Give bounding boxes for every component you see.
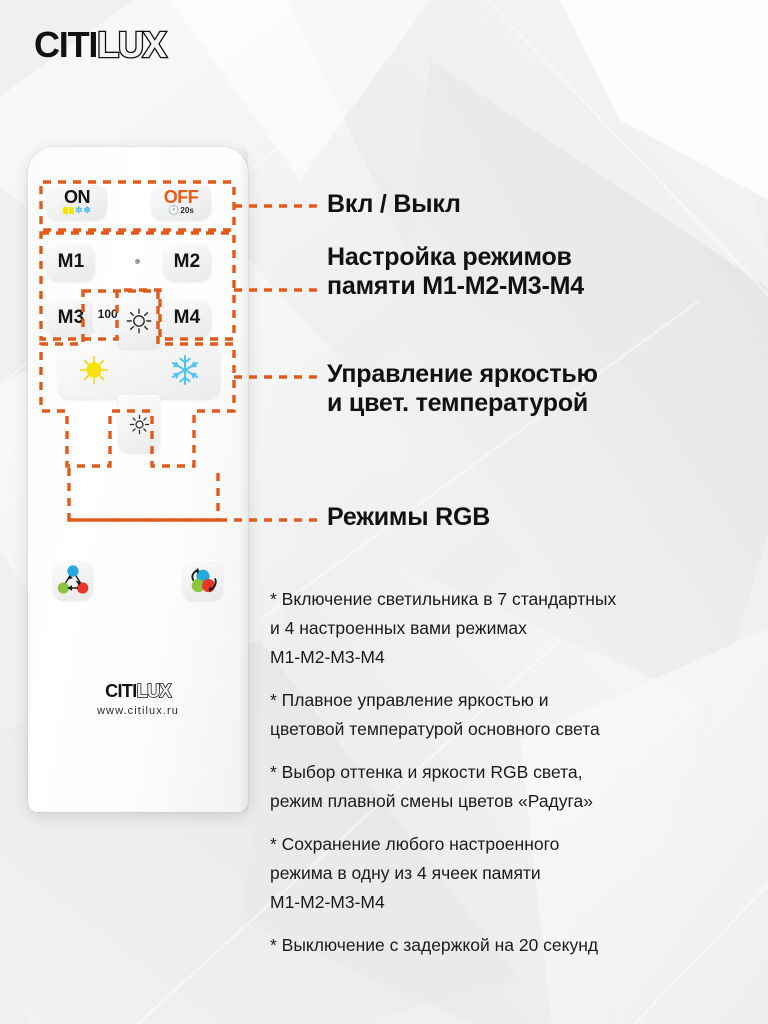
rgb-color-select-icon [57, 564, 89, 596]
memory-button-m3-label: M3 [58, 307, 85, 329]
brand-logo-lux: LUX [97, 24, 165, 65]
callout-label-memory: Настройка режимов памяти M1-M2-M3-M4 [327, 243, 584, 301]
poster-root: CITILUX ON ✲ ❄ OFF 🕐 20s M1 M2 [0, 0, 768, 1024]
power-on-mini-icons: ✲ ❄ [63, 206, 91, 215]
brightness-down-sun-icon [129, 414, 150, 435]
power-on-button[interactable]: ON ✲ ❄ [47, 184, 107, 220]
memory-button-m1-label: M1 [58, 251, 85, 273]
power-off-button[interactable]: OFF 🕐 20s [151, 184, 211, 220]
brand-logo: CITILUX [34, 27, 166, 63]
remote-footer-logo: CITILUX [28, 681, 248, 702]
feature-list: * Включение светильника в 7 стандартных … [270, 585, 762, 974]
power-on-label: ON [64, 189, 90, 206]
memory-button-m2-label: M2 [174, 251, 201, 273]
feature-item: * Плавное управление яркостью и цветовой… [270, 686, 762, 744]
callout-label-onoff: Вкл / Выкл [327, 190, 461, 219]
remote-footer-url: www.citilux.ru [28, 705, 248, 717]
warm-light-button[interactable] [80, 356, 108, 389]
power-off-timer: 🕐 20s [168, 206, 194, 215]
yellow-square-icon [63, 207, 68, 214]
brightness-up-sun-icon [126, 308, 152, 334]
feature-item: * Включение светильника в 7 стандартных … [270, 585, 762, 672]
remote-footer-logo-citi: CITI [105, 681, 137, 701]
power-off-label: OFF [164, 189, 199, 206]
power-off-timer-label: 20s [180, 206, 193, 215]
snowflake-icon: ✲ [75, 206, 83, 215]
remote-footer-logo-lux: LUX [137, 681, 171, 701]
clock-icon: 🕐 [168, 206, 179, 215]
callout-label-rgb: Режимы RGB [327, 503, 490, 532]
cold-light-snowflake-icon [170, 354, 200, 386]
brightness-up-button[interactable] [118, 293, 160, 348]
rgb-rainbow-cycle-button[interactable] [183, 560, 223, 600]
direction-pad: 100% [92, 293, 186, 455]
feature-item: * Выбор оттенка и яркости RGB света, реж… [270, 758, 762, 816]
pad-horizontal-arm [58, 343, 220, 399]
warm-light-sun-icon [80, 356, 108, 384]
memory-button-m2[interactable]: M2 [163, 243, 211, 281]
feature-item: * Выключение с задержкой на 20 секунд [270, 931, 762, 960]
yellow-square-icon [69, 207, 74, 214]
ir-led-dot-icon [135, 259, 140, 264]
rgb-rainbow-cycle-icon [186, 564, 220, 596]
feature-item: * Сохранение любого настроенного режима … [270, 830, 762, 917]
snowflake-icon: ❄ [84, 206, 92, 215]
remote-control-body: ON ✲ ❄ OFF 🕐 20s M1 M2 M3 M4 [28, 147, 248, 812]
rgb-color-select-button[interactable] [53, 560, 93, 600]
callout-label-brightness: Управление яркостью и цвет. температурой [327, 360, 598, 418]
memory-button-m3[interactable]: M3 [47, 299, 95, 337]
cold-light-button[interactable] [170, 354, 200, 391]
memory-button-m1[interactable]: M1 [47, 243, 95, 281]
brand-logo-citi: CITI [34, 24, 97, 65]
brightness-down-button[interactable] [118, 395, 160, 453]
